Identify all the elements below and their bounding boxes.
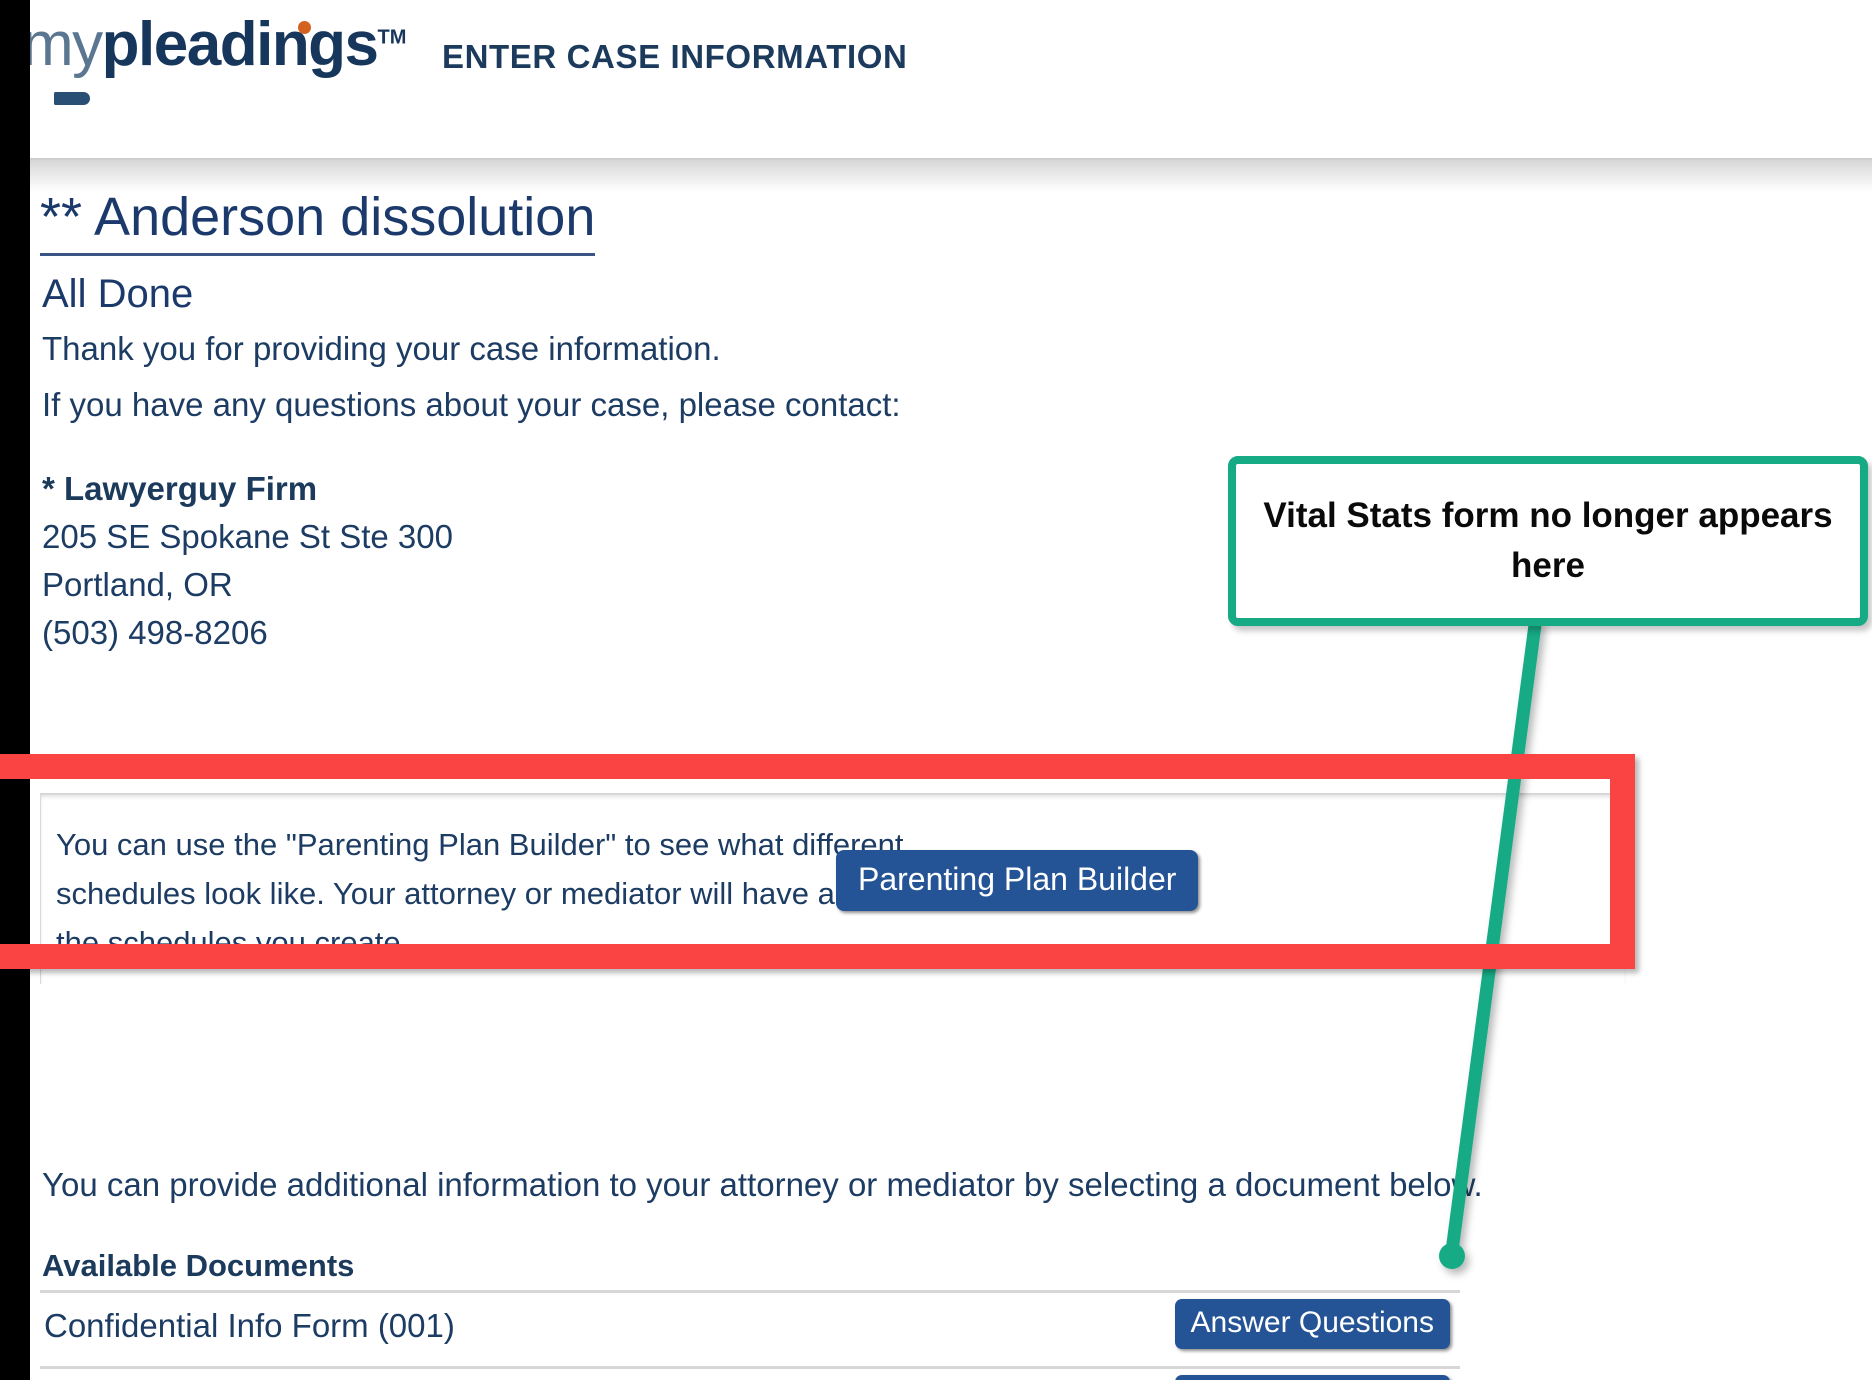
trademark-icon: TM [378,26,407,48]
firm-city-state: Portland, OR [42,566,233,604]
logo-text-pleadings: pleadings [102,10,378,79]
red-highlight-box-annotation [0,754,1635,969]
logo-orange-dot-icon [298,21,311,34]
table-row: Confidential Info Form (001) Answer Ques… [40,1293,1460,1366]
mypleadings-logo[interactable]: mypleadingsTM [22,14,406,76]
callout-box-annotation: Vital Stats form no longer appears here [1228,456,1868,626]
document-name: Confidential Info Form (001) [44,1307,455,1345]
firm-street-address: 205 SE Spokane St Ste 300 [42,518,453,556]
case-title-link[interactable]: ** Anderson dissolution [40,186,595,248]
answer-questions-button[interactable]: Answer Questions [1175,1375,1450,1380]
table-row: Financial Declaration (131) Answer Quest… [40,1369,1460,1380]
case-title-label: ** Anderson dissolution [40,187,595,256]
logo-swoosh-icon [54,92,90,105]
status-heading: All Done [42,272,193,317]
contact-prompt-text: If you have any questions about your cas… [42,386,901,424]
screenshot-root: mypleadingsTM ENTER CASE INFORMATION ** … [0,0,1872,1380]
header-divider-shadow [30,158,1872,192]
firm-name: * Lawyerguy Firm [42,470,317,508]
left-edge-strip [0,0,30,1380]
thank-you-text: Thank you for providing your case inform… [42,330,721,368]
callout-text: Vital Stats form no longer appears here [1236,491,1860,591]
app-header: mypleadingsTM ENTER CASE INFORMATION [30,0,1872,158]
documents-intro-text: You can provide additional information t… [42,1166,1483,1204]
answer-questions-button[interactable]: Answer Questions [1175,1299,1450,1349]
page-title: ENTER CASE INFORMATION [442,38,907,76]
logo-text-my: my [22,10,102,79]
firm-phone: (503) 498-8206 [42,614,268,652]
available-documents-table: Confidential Info Form (001) Answer Ques… [40,1290,1460,1380]
available-documents-heading: Available Documents [42,1248,354,1284]
